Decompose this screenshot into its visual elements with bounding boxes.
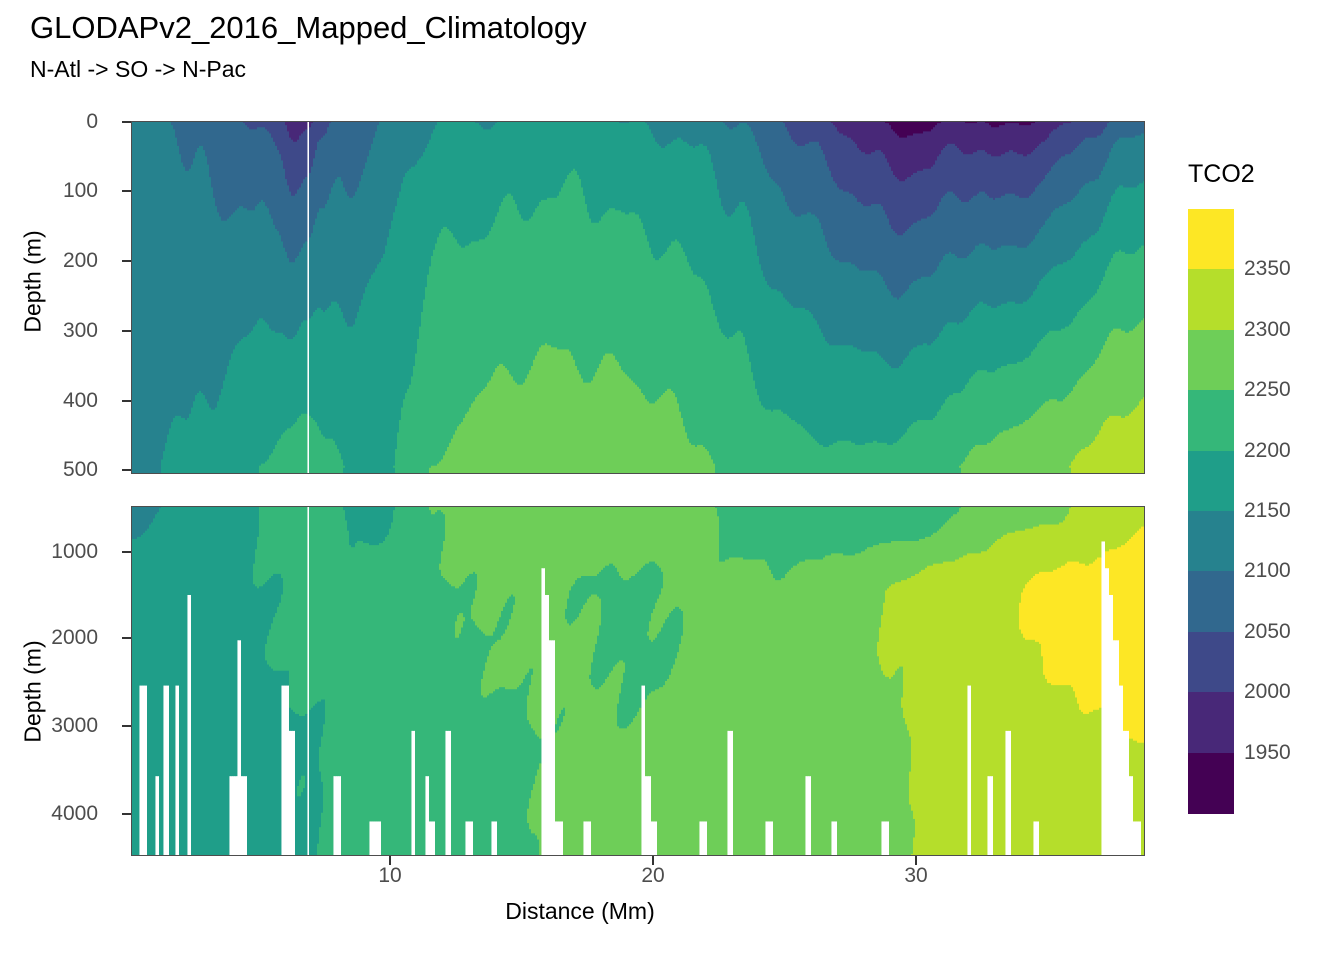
y-tick-mark-upper xyxy=(122,121,131,123)
y-tick-label-lower: 2000 xyxy=(51,627,98,648)
y-tick-label-upper: 0 xyxy=(86,111,98,132)
x-tick-mark xyxy=(652,856,654,865)
y-tick-label-upper: 300 xyxy=(63,320,98,341)
section-plot-lower-panel[interactable] xyxy=(131,506,1145,856)
y-tick-label-lower: 1000 xyxy=(51,541,98,562)
legend-tick-label: 2050 xyxy=(1244,621,1291,642)
y-tick-mark-upper xyxy=(122,330,131,332)
legend-tick-label: 1950 xyxy=(1244,742,1291,763)
legend-tick-label: 2350 xyxy=(1244,258,1291,279)
legend-swatch[interactable] xyxy=(1188,632,1234,693)
y-tick-label-upper: 500 xyxy=(63,459,98,480)
x-tick-mark xyxy=(389,856,391,865)
x-tick-label: 30 xyxy=(886,864,946,888)
y-axis-title-lower: Depth (m) xyxy=(20,640,47,742)
y-tick-mark-lower xyxy=(122,813,131,815)
y-tick-label-lower: 3000 xyxy=(51,715,98,736)
legend-swatch[interactable] xyxy=(1188,269,1234,330)
y-tick-mark-upper xyxy=(122,469,131,471)
y-axis-title-upper: Depth (m) xyxy=(20,230,47,332)
section-plot-upper-panel[interactable] xyxy=(131,121,1145,474)
x-tick-label: 10 xyxy=(360,864,420,888)
y-tick-label-upper: 400 xyxy=(63,390,98,411)
y-tick-mark-upper xyxy=(122,260,131,262)
legend-swatch[interactable] xyxy=(1188,692,1234,753)
legend-swatch[interactable] xyxy=(1188,511,1234,572)
y-tick-mark-upper xyxy=(122,190,131,192)
legend-tick-label: 2250 xyxy=(1244,379,1291,400)
legend-swatch[interactable] xyxy=(1188,451,1234,512)
legend-swatch[interactable] xyxy=(1188,390,1234,451)
legend-swatch[interactable] xyxy=(1188,571,1234,632)
legend-tick-label: 2200 xyxy=(1244,440,1291,461)
y-tick-mark-lower xyxy=(122,637,131,639)
y-tick-label-upper: 100 xyxy=(63,180,98,201)
legend-swatch[interactable] xyxy=(1188,330,1234,391)
page-title: GLODAPv2_2016_Mapped_Climatology xyxy=(30,10,587,46)
y-tick-mark-lower xyxy=(122,551,131,553)
page-subtitle: N-Atl -> SO -> N-Pac xyxy=(30,56,246,83)
x-axis-title: Distance (Mm) xyxy=(0,898,1160,925)
y-tick-label-lower: 4000 xyxy=(51,803,98,824)
y-tick-mark-upper xyxy=(122,400,131,402)
legend-swatch[interactable] xyxy=(1188,209,1234,270)
x-tick-label: 20 xyxy=(623,864,683,888)
y-tick-mark-lower xyxy=(122,725,131,727)
legend-title: TCO2 xyxy=(1188,160,1255,189)
y-tick-label-upper: 200 xyxy=(63,250,98,271)
legend-swatch[interactable] xyxy=(1188,753,1234,814)
legend-tick-label: 2300 xyxy=(1244,319,1291,340)
legend-tick-label: 2150 xyxy=(1244,500,1291,521)
legend-tick-label: 2000 xyxy=(1244,681,1291,702)
legend-tick-label: 2100 xyxy=(1244,560,1291,581)
x-tick-mark xyxy=(915,856,917,865)
